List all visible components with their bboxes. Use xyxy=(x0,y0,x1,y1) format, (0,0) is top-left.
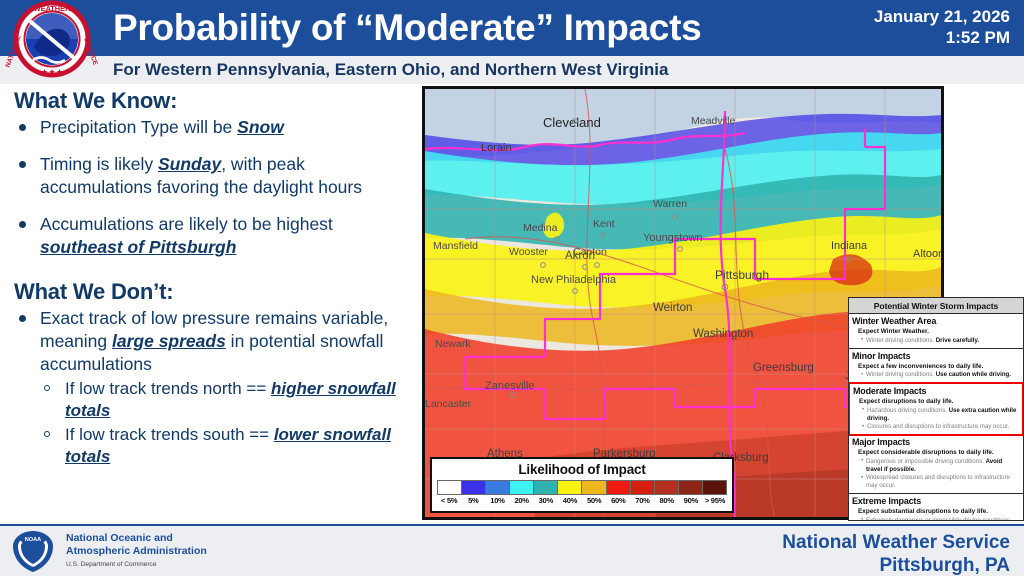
know-bullet-2: Timing is likely Sunday, with peak accum… xyxy=(0,153,418,199)
svg-text:Newark: Newark xyxy=(435,338,471,350)
bullet-ring-icon xyxy=(44,431,50,437)
svg-text:Zanesville: Zanesville xyxy=(485,380,535,392)
svg-text:Lorain: Lorain xyxy=(481,142,512,154)
svg-text:Warren: Warren xyxy=(653,198,687,210)
legend-swatch-7 xyxy=(606,480,630,495)
issued-time: 1:52 PM xyxy=(770,27,1010,48)
impacts-rows: Winter Weather AreaExpect Winter Weather… xyxy=(849,314,1023,521)
impact-heading: Extreme Impacts xyxy=(852,496,1020,507)
legend-swatch-1 xyxy=(461,480,485,495)
legend-tick-labels: < 5%5%10%20%30%40%50%60%70%80%90%> 95% xyxy=(437,496,727,505)
bullet-dot-icon xyxy=(19,161,26,168)
impact-subheading: Expect disruptions to daily life. xyxy=(859,398,1019,406)
impact-detail-1: Hazardous driving conditions. Use extra … xyxy=(862,407,1019,423)
know-bullet-2-emphasis: Sunday xyxy=(158,154,221,174)
know-bullet-1: Precipitation Type will be Snow xyxy=(0,116,418,139)
impact-detail-1: Extremely dangerous or impossible drivin… xyxy=(861,517,1020,522)
legend-tick-10: 90% xyxy=(679,496,703,505)
impact-detail-1: Winter driving conditions. Drive careful… xyxy=(861,337,1020,345)
section-heading-know: What We Know: xyxy=(14,88,418,114)
impact-row-major-impacts: Major ImpactsExpect considerable disrupt… xyxy=(849,435,1023,494)
svg-text:Greensburg: Greensburg xyxy=(753,362,814,374)
svg-text:★ ★ ★: ★ ★ ★ xyxy=(41,69,63,76)
know-bullet-list: Precipitation Type will be SnowTiming is… xyxy=(0,116,418,259)
legend-tick-7: 60% xyxy=(606,496,630,505)
legend-title: Likelihood of Impact xyxy=(437,462,727,478)
svg-text:Wooster: Wooster xyxy=(509,246,548,258)
know-bullet-3: Accumulations are likely to be highest s… xyxy=(0,213,418,259)
noaa-line-3: U.S. Department of Commerce xyxy=(66,559,207,572)
legend-tick-2: 10% xyxy=(485,496,509,505)
svg-text:NOAA: NOAA xyxy=(25,537,41,543)
impact-row-minor-impacts: Minor ImpactsExpect a few inconveniences… xyxy=(849,349,1023,384)
svg-text:Washington: Washington xyxy=(693,328,753,340)
issued-datetime: January 21, 2026 1:52 PM xyxy=(770,6,1010,48)
potential-impacts-table: Potential Winter Storm Impacts Winter We… xyxy=(848,297,1024,521)
legend-tick-11: > 95% xyxy=(703,496,727,505)
dont-bullet-list: Exact track of low pressure remains vari… xyxy=(0,307,418,468)
impact-subheading: Expect considerable disruptions to daily… xyxy=(858,449,1020,457)
legend-swatch-2 xyxy=(485,480,509,495)
slide-root: WEATHER ★ ★ ★ NATIONAL SERVICE Probabili… xyxy=(0,0,1024,576)
impact-subheading: Expect Winter Weather. xyxy=(858,328,1020,336)
legend-swatch-11 xyxy=(702,480,727,495)
impact-detail-emphasis: Drive carefully. xyxy=(936,337,979,344)
impact-detail-text: Winter driving conditions. xyxy=(866,371,936,378)
impact-detail-emphasis: Use caution while driving. xyxy=(936,371,1011,378)
know-bullet-3-emphasis: southeast of Pittsburgh xyxy=(40,237,236,257)
dont-subbullet-1: If low track trends north == higher snow… xyxy=(40,378,418,422)
dont-bullet-1-emphasis: large spreads xyxy=(112,331,226,351)
svg-text:New Philadelphia: New Philadelphia xyxy=(531,274,617,286)
dont-subbullet-1-text: If low track trends north == xyxy=(65,379,271,398)
legend-swatch-9 xyxy=(654,480,678,495)
svg-text:Medina: Medina xyxy=(523,222,558,234)
likelihood-legend: Likelihood of Impact < 5%5%10%20%30%40%5… xyxy=(430,457,734,513)
impacts-table-title: Potential Winter Storm Impacts xyxy=(849,298,1023,314)
legend-swatch-4 xyxy=(533,480,557,495)
impact-detail-text: Winter driving conditions. xyxy=(866,337,936,344)
svg-text:Mansfield: Mansfield xyxy=(433,240,478,252)
impact-detail-2: Closures and disruptions to infrastructu… xyxy=(862,423,1019,431)
legend-tick-5: 40% xyxy=(558,496,582,505)
legend-swatch-0 xyxy=(437,480,461,495)
svg-text:Weirton: Weirton xyxy=(653,302,692,314)
bullet-ring-icon xyxy=(44,385,50,391)
page-title: Probability of “Moderate” Impacts xyxy=(113,4,803,52)
impact-detail-text: Extremely dangerous or impossible drivin… xyxy=(866,517,1012,522)
dont-subbullet-2: If low track trends south == lower snowf… xyxy=(40,424,418,468)
svg-text:Meadville: Meadville xyxy=(691,115,736,127)
impact-heading: Moderate Impacts xyxy=(853,386,1019,397)
noaa-seal-logo: NOAA xyxy=(10,529,56,573)
impact-detail-2: Widespread closures and disruptions to i… xyxy=(861,474,1020,490)
office-location: Pittsburgh, PA xyxy=(782,554,1010,577)
impact-heading: Minor Impacts xyxy=(852,351,1020,362)
impact-row-winter-weather-area: Winter Weather AreaExpect Winter Weather… xyxy=(849,314,1023,349)
impact-detail-text: Closures and disruptions to infrastructu… xyxy=(867,423,1009,430)
bullet-dot-icon xyxy=(19,124,26,131)
legend-color-bar xyxy=(437,480,727,495)
legend-tick-9: 80% xyxy=(655,496,679,505)
svg-text:Canton: Canton xyxy=(573,246,607,258)
svg-text:Altoona: Altoona xyxy=(913,248,941,260)
dont-subbullet-list: If low track trends north == higher snow… xyxy=(40,378,418,468)
legend-tick-3: 20% xyxy=(510,496,534,505)
svg-text:Youngstown: Youngstown xyxy=(643,232,703,244)
noaa-line-1: National Oceanic and xyxy=(66,532,207,545)
svg-text:Lancaster: Lancaster xyxy=(425,398,472,410)
nws-roundel-logo: WEATHER ★ ★ ★ NATIONAL SERVICE xyxy=(4,0,100,78)
issued-date: January 21, 2026 xyxy=(770,6,1010,27)
legend-swatch-6 xyxy=(581,480,605,495)
office-name: National Weather Service xyxy=(782,531,1010,554)
legend-tick-4: 30% xyxy=(534,496,558,505)
know-bullet-1-text: Precipitation Type will be xyxy=(40,117,237,137)
legend-swatch-10 xyxy=(678,480,702,495)
section-heading-dont: What We Don’t: xyxy=(14,279,418,305)
know-bullet-3-text: Accumulations are likely to be highest xyxy=(40,214,333,234)
bullet-dot-icon xyxy=(19,315,26,322)
impact-detail-text: Hazardous driving conditions. xyxy=(867,407,949,414)
impact-detail-text: Dangerous or impossible driving conditio… xyxy=(866,458,986,465)
noaa-line-2: Atmospheric Administration xyxy=(66,545,207,558)
impact-row-moderate-impacts: Moderate ImpactsExpect disruptions to da… xyxy=(848,382,1024,436)
noaa-agency-name: National Oceanic and Atmospheric Adminis… xyxy=(66,532,207,572)
svg-text:Indiana: Indiana xyxy=(831,240,868,252)
impact-row-extreme-impacts: Extreme ImpactsExpect substantial disrup… xyxy=(849,494,1023,521)
dont-bullet-1: Exact track of low pressure remains vari… xyxy=(0,307,418,468)
legend-tick-8: 70% xyxy=(630,496,654,505)
office-identity: National Weather Service Pittsburgh, PA xyxy=(782,531,1010,577)
dont-subbullet-2-text: If low track trends south == xyxy=(65,425,274,444)
know-bullet-1-emphasis: Snow xyxy=(237,117,284,137)
bullet-dot-icon xyxy=(19,221,26,228)
legend-swatch-3 xyxy=(509,480,533,495)
svg-text:Pittsburgh: Pittsburgh xyxy=(715,268,769,282)
impact-detail-1: Winter driving conditions. Use caution w… xyxy=(861,371,1020,379)
impact-subheading: Expect a few inconveniences to daily lif… xyxy=(858,363,1020,371)
legend-tick-6: 50% xyxy=(582,496,606,505)
briefing-text-column: What We Know: Precipitation Type will be… xyxy=(0,88,418,518)
know-bullet-2-text: Timing is likely xyxy=(40,154,158,174)
legend-tick-0: < 5% xyxy=(437,496,461,505)
impact-detail-1: Dangerous or impossible driving conditio… xyxy=(861,458,1020,474)
svg-text:Cleveland: Cleveland xyxy=(543,115,601,130)
svg-text:Kent: Kent xyxy=(593,218,615,230)
impact-heading: Major Impacts xyxy=(852,437,1020,448)
impact-subheading: Expect substantial disruptions to daily … xyxy=(858,508,1020,516)
svg-text:WEATHER: WEATHER xyxy=(34,4,71,13)
impact-detail-text: Widespread closures and disruptions to i… xyxy=(866,474,1010,489)
impact-heading: Winter Weather Area xyxy=(852,316,1020,327)
legend-swatch-8 xyxy=(630,480,654,495)
legend-tick-1: 5% xyxy=(461,496,485,505)
page-subtitle: For Western Pennsylvania, Eastern Ohio, … xyxy=(113,57,668,83)
legend-swatch-5 xyxy=(557,480,581,495)
